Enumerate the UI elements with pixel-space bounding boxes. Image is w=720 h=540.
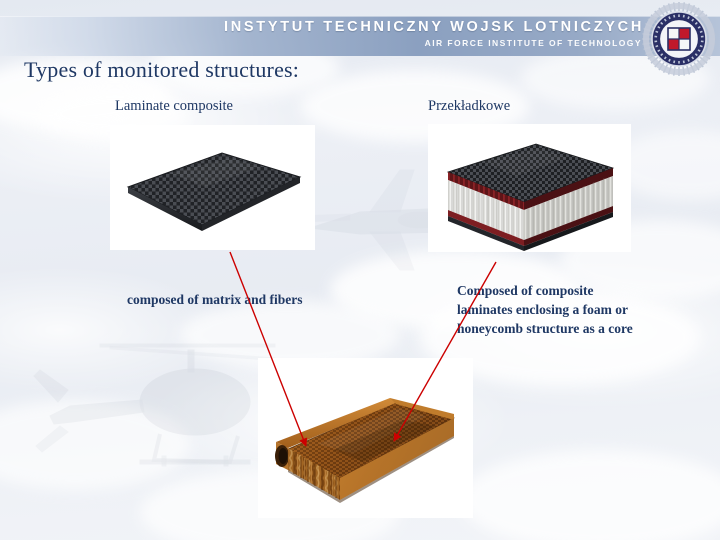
cloud-decoration (460, 450, 720, 540)
description-left: composed of matrix and fibers (127, 290, 327, 309)
column-heading-left: Laminate composite (115, 98, 233, 115)
image-sandwich-panel (428, 124, 631, 252)
air-force-institute-emblem-icon (642, 2, 716, 76)
header-highlight-line (0, 16, 720, 17)
header-title-english: AIR FORCE INSTITUTE OF TECHNOLOGY (425, 38, 642, 48)
slide-canvas: INSTYTUT TECHNICZNY WOJSK LOTNICZYCH AIR… (0, 0, 720, 540)
header-title-polish: INSTYTUT TECHNICZNY WOJSK LOTNICZYCH (224, 19, 644, 35)
image-corrugated-panel (258, 358, 473, 518)
image-laminate-composite (110, 125, 315, 250)
description-right: Composed of composite laminates enclosin… (457, 281, 647, 338)
page-title: Types of monitored structures: (24, 57, 299, 83)
institute-header-banner: INSTYTUT TECHNICZNY WOJSK LOTNICZYCH AIR… (0, 16, 720, 56)
column-heading-right: Przekładkowe (428, 98, 510, 115)
cloud-decoration (0, 400, 190, 490)
helicopter-watermark (10, 330, 280, 510)
